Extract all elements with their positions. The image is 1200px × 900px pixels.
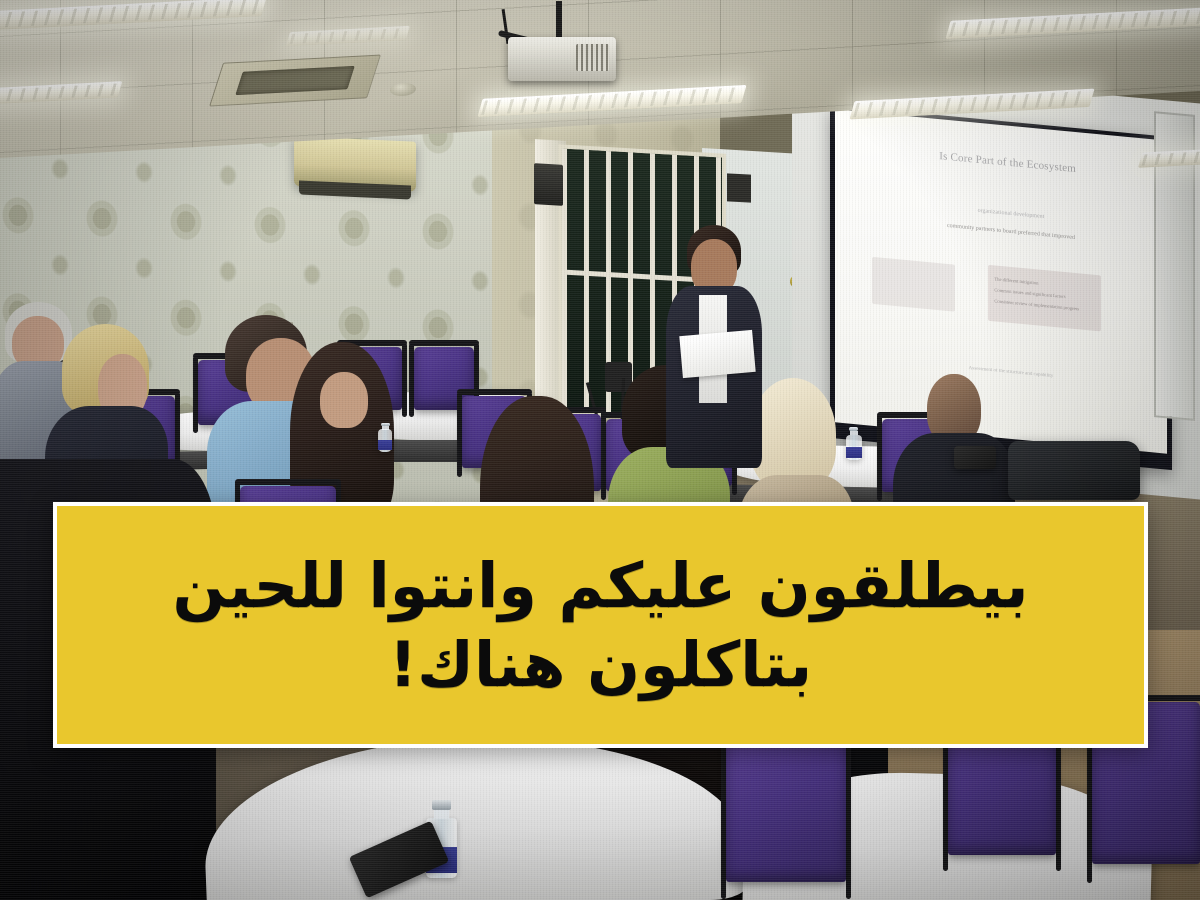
caption-banner: بيطلقون عليكم وانتوا للحين بتاكلون هناك!: [53, 502, 1148, 748]
presenter: [666, 225, 762, 459]
caption-text: بيطلقون عليكم وانتوا للحين بتاكلون هناك!: [133, 546, 1069, 705]
water-bottle: [846, 428, 862, 460]
slide-panel-left: [872, 256, 955, 311]
wall-speaker-icon: [534, 163, 563, 206]
water-bottle: [378, 423, 392, 452]
projector-mount: [556, 1, 562, 38]
shoulder-bag: [1008, 441, 1140, 500]
held-paper: [680, 330, 756, 378]
chair[interactable]: [726, 738, 846, 882]
projector-body: [508, 37, 616, 82]
wall-air-conditioner: [294, 136, 416, 192]
ceiling-projector: [498, 11, 624, 83]
device-on-table: [954, 446, 996, 469]
caption-line-2: بتاكلون هناك!: [173, 625, 1029, 704]
screenshot-root: Is Core Part of the Ecosystem organizati…: [0, 0, 1200, 900]
caption-line-1: بيطلقون عليكم وانتوا للحين: [173, 546, 1029, 625]
conference-room-photo: Is Core Part of the Ecosystem organizati…: [0, 0, 1200, 900]
wall-dark-panel: [727, 173, 751, 202]
slide-title: Is Core Part of the Ecosystem: [869, 143, 1148, 181]
